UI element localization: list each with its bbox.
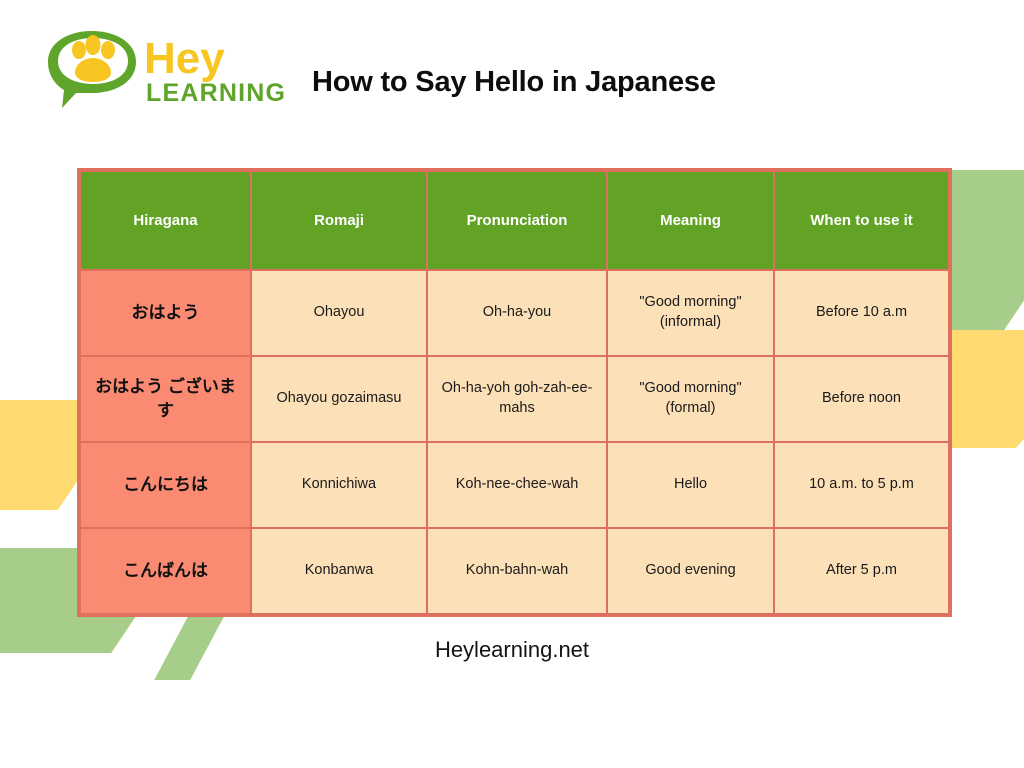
cell-romaji: Konbanwa <box>251 528 427 614</box>
table-row: おはよう ございます Ohayou gozaimasu Oh-ha-yoh go… <box>80 356 949 442</box>
table-row: おはよう Ohayou Oh-ha-you "Good morning" (in… <box>80 270 949 356</box>
cell-pronunciation: Oh-ha-you <box>427 270 607 356</box>
column-header-meaning: Meaning <box>607 171 774 270</box>
table-header-row: Hiragana Romaji Pronunciation Meaning Wh… <box>80 171 949 270</box>
cell-meaning: Hello <box>607 442 774 528</box>
cell-when-to-use: Before noon <box>774 356 949 442</box>
svg-text:LEARNING: LEARNING <box>146 79 286 107</box>
column-header-hiragana: Hiragana <box>80 171 251 270</box>
brand-logo: Hey LEARNING <box>36 28 286 116</box>
column-header-pronunciation: Pronunciation <box>427 171 607 270</box>
cell-hiragana: おはよう <box>80 270 251 356</box>
column-header-romaji: Romaji <box>251 171 427 270</box>
table-header: Hiragana Romaji Pronunciation Meaning Wh… <box>80 171 949 270</box>
hello-phrases-table: Hiragana Romaji Pronunciation Meaning Wh… <box>79 170 950 615</box>
table-row: こんばんは Konbanwa Kohn-bahn-wah Good evenin… <box>80 528 949 614</box>
page-title: How to Say Hello in Japanese <box>312 66 716 99</box>
paw-speech-bubble-logo: Hey LEARNING <box>36 28 286 116</box>
hello-phrases-table-container: Hiragana Romaji Pronunciation Meaning Wh… <box>79 170 950 615</box>
cell-hiragana: こんばんは <box>80 528 251 614</box>
column-header-when-to-use: When to use it <box>774 171 949 270</box>
page-header: Hey LEARNING How to Say Hello in Japanes… <box>0 0 1024 150</box>
cell-when-to-use: 10 a.m. to 5 p.m <box>774 442 949 528</box>
cell-when-to-use: Before 10 a.m <box>774 270 949 356</box>
cell-meaning: "Good morning" (formal) <box>607 356 774 442</box>
cell-meaning: "Good morning" (informal) <box>607 270 774 356</box>
svg-text:Hey: Hey <box>144 34 225 83</box>
cell-pronunciation: Oh-ha-yoh goh-zah-ee-mahs <box>427 356 607 442</box>
cell-hiragana: おはよう ございます <box>80 356 251 442</box>
footer-website-url: Heylearning.net <box>0 637 1024 663</box>
cell-hiragana: こんにちは <box>80 442 251 528</box>
cell-meaning: Good evening <box>607 528 774 614</box>
cell-romaji: Konnichiwa <box>251 442 427 528</box>
cell-romaji: Ohayou <box>251 270 427 356</box>
table-body: おはよう Ohayou Oh-ha-you "Good morning" (in… <box>80 270 949 614</box>
cell-pronunciation: Koh-nee-chee-wah <box>427 442 607 528</box>
cell-romaji: Ohayou gozaimasu <box>251 356 427 442</box>
table-row: こんにちは Konnichiwa Koh-nee-chee-wah Hello … <box>80 442 949 528</box>
cell-when-to-use: After 5 p.m <box>774 528 949 614</box>
cell-pronunciation: Kohn-bahn-wah <box>427 528 607 614</box>
